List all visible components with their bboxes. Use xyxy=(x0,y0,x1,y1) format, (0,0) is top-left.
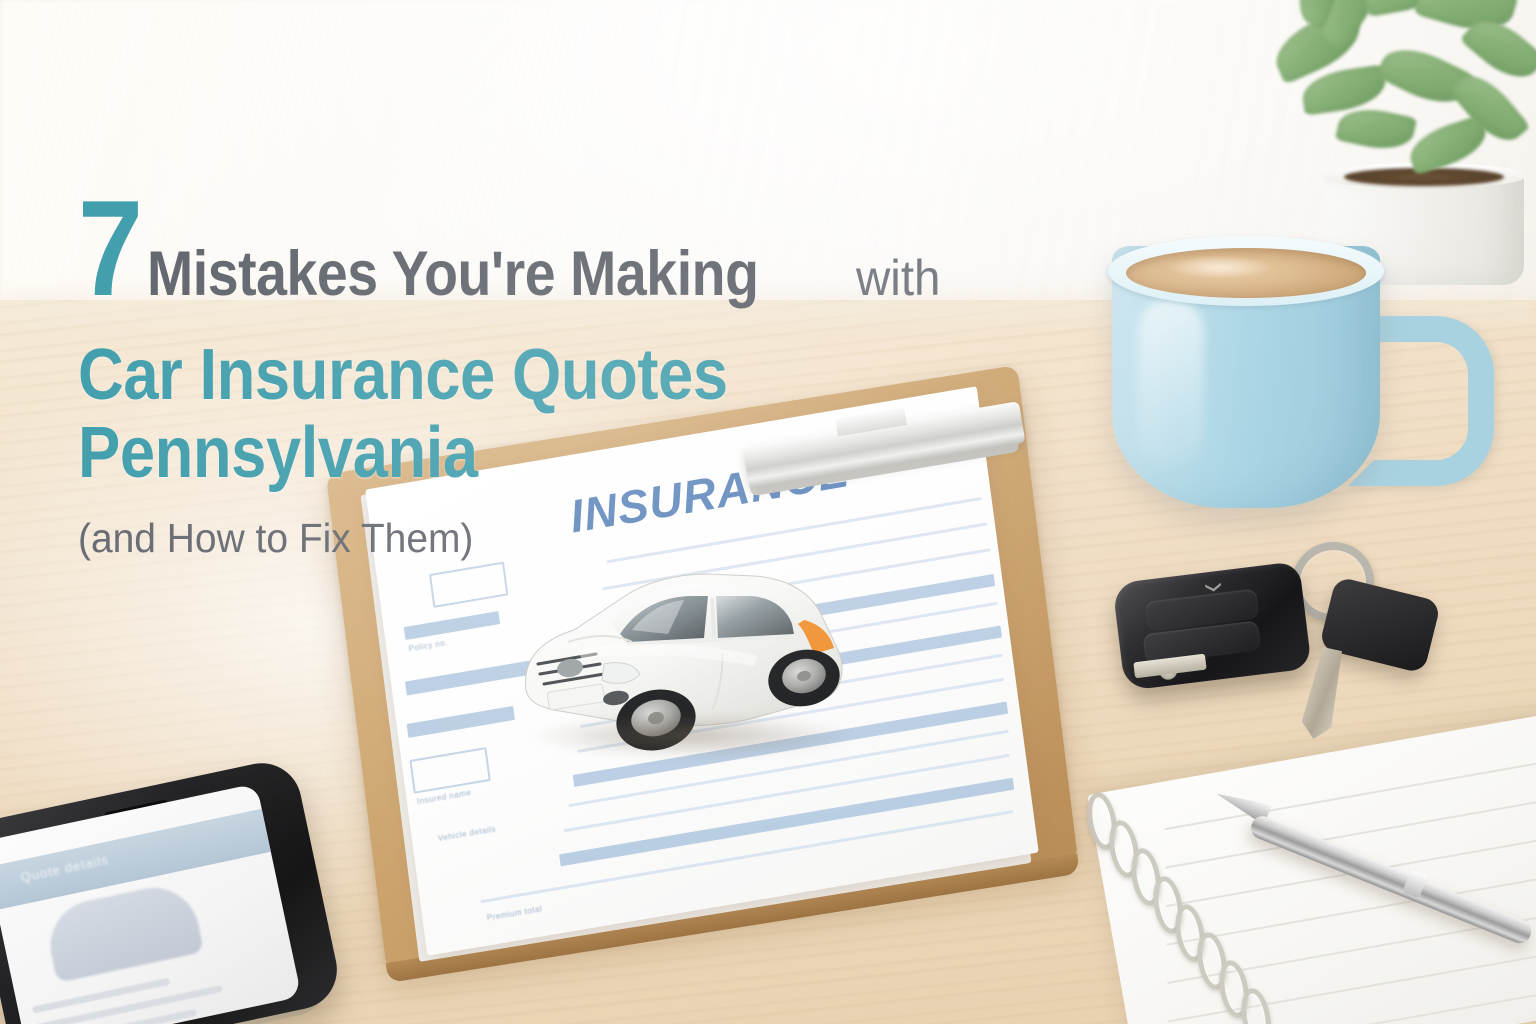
form-checkbox xyxy=(429,562,508,608)
headline-line-1: 7 Mistakes You're Making with xyxy=(78,186,898,311)
headline-subtitle: (and How to Fix Them) xyxy=(78,515,857,562)
form-bar xyxy=(404,611,500,640)
headline-bold-text: Mistakes You're Making xyxy=(147,246,759,304)
coffee-mug xyxy=(1112,228,1442,518)
form-bar xyxy=(407,706,515,738)
smartphone: Quote details xyxy=(0,788,326,1024)
headline-light-text: with xyxy=(856,255,940,301)
car-keys xyxy=(1108,530,1448,760)
headline-accent-line-2: Pennsylvania xyxy=(78,415,800,493)
leaf-icon xyxy=(1335,103,1417,156)
form-label: Premium total xyxy=(486,904,542,922)
toy-car-shadow xyxy=(526,714,856,758)
toy-car xyxy=(508,538,878,768)
hero-graphic: INSURANCE Policy no. Insured name Vehicl… xyxy=(0,0,1536,1024)
form-label: Vehicle details xyxy=(437,825,496,844)
headline-block: 7 Mistakes You're Making with Car Insura… xyxy=(78,186,898,562)
notebook-rule xyxy=(1164,755,1536,830)
coffee-crema xyxy=(1170,256,1270,278)
phone-text-line xyxy=(32,978,170,1014)
form-label: Policy no. xyxy=(408,638,448,654)
mug-highlight xyxy=(1138,298,1204,468)
headline-accent-line-1: Car Insurance Quotes xyxy=(78,337,800,415)
form-checkbox xyxy=(409,747,490,794)
headline-number: 7 xyxy=(78,186,140,311)
